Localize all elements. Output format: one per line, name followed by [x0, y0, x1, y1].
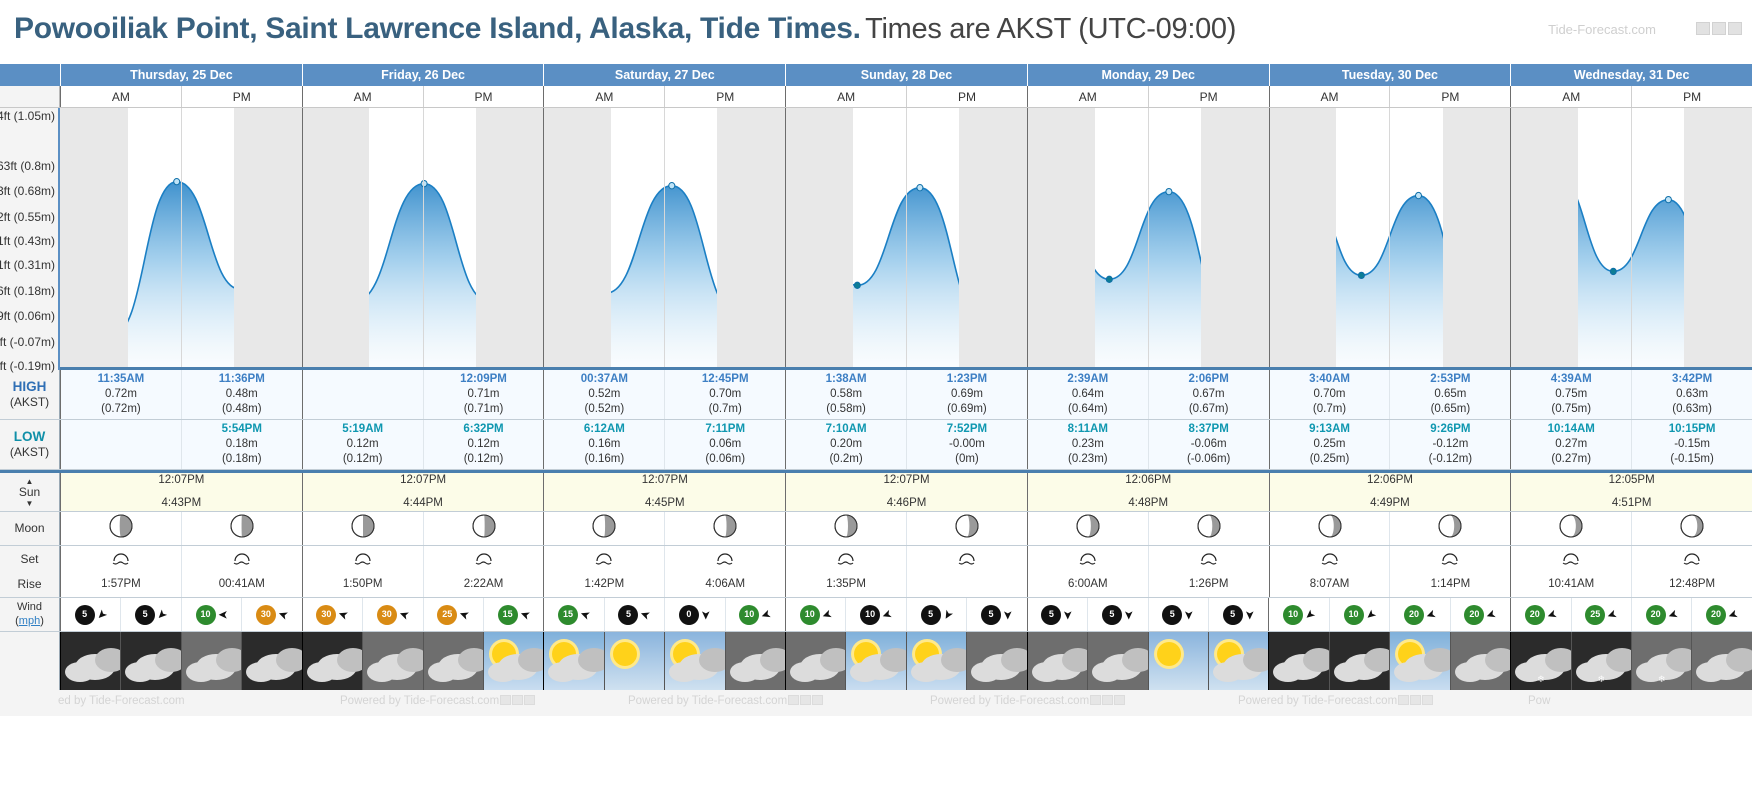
wind-cell-18: 5➤	[1148, 598, 1208, 631]
high-tide-height-alt: (0.72m)	[101, 402, 141, 417]
language-flags[interactable]	[1696, 22, 1742, 35]
footer-watermark-5: Pow	[1528, 695, 1550, 707]
weather-label	[0, 632, 60, 690]
day-header-2: Saturday, 27 Dec	[543, 64, 785, 86]
wind-speed-badge: 5	[75, 605, 95, 625]
high-tide-time: 11:35AM	[98, 372, 145, 387]
tide-low-marker-19	[1358, 272, 1364, 278]
high-tide-cell-4: 00:37AM0.52m(0.52m)	[543, 370, 664, 419]
y-axis-label-5: 1.01ft (0.31m)	[0, 258, 55, 272]
day-header-row: Thursday, 25 DecFriday, 26 DecSaturday, …	[0, 64, 1752, 86]
moon-rise-cell-3: 2:22AM	[423, 572, 544, 597]
low-tide-height-alt: (0.18m)	[222, 452, 262, 467]
weather-tile-1	[120, 632, 180, 690]
night-shading-3-0	[785, 108, 853, 367]
low-tide-label: LOW (AKST)	[0, 420, 60, 469]
wind-cell-24: 20➤	[1510, 598, 1570, 631]
cloud-icon	[1666, 648, 1691, 672]
high-tide-height-alt: (0.64m)	[1068, 402, 1108, 417]
wind-cell-22: 20➤	[1389, 598, 1449, 631]
weather-icon-row: ❄❄❄	[0, 632, 1752, 690]
wind-direction-arrow-icon: ➤	[1666, 607, 1680, 622]
low-tide-label-text: LOW	[14, 429, 46, 446]
moon-phase-icon	[1558, 513, 1584, 544]
wind-row: Wind (mph) 5➤5➤10➤30➤30➤30➤25➤15➤15➤5➤0➤…	[0, 598, 1752, 632]
moon-cell-9	[1148, 512, 1269, 545]
low-tide-height-m: 0.06m	[709, 437, 741, 452]
high-tide-height-alt: (0.7m)	[709, 402, 742, 417]
wind-cell-21: 10➤	[1329, 598, 1389, 631]
moon-rise-time: 4:06AM	[705, 577, 745, 592]
wind-direction-arrow-icon: ➤	[397, 607, 411, 622]
cloud-icon	[880, 648, 905, 672]
high-tide-height-alt: (0.7m)	[1313, 402, 1346, 417]
moon-phase-icon	[229, 513, 255, 544]
moon-rise-cell-1: 00:41AM	[181, 572, 302, 597]
weather-tile-14	[906, 632, 966, 690]
flag-icon[interactable]	[1728, 22, 1742, 35]
wind-cell-6: 25➤	[423, 598, 483, 631]
halfday-header-3-pm: PM	[906, 86, 1027, 107]
halfday-header-4-am: AM	[1027, 86, 1148, 107]
moon-rise-cell-11: 1:14PM	[1389, 572, 1510, 597]
wind-cell-16: 5➤	[1027, 598, 1087, 631]
moon-set-icon	[1681, 549, 1703, 570]
wind-speed-badge: 30	[256, 605, 276, 625]
moon-set-cell-5	[664, 546, 785, 572]
high-tide-height-m: 0.72m	[105, 387, 137, 402]
low-tide-time: 7:11PM	[705, 422, 745, 437]
moon-phase-icon	[591, 513, 617, 544]
wind-cell-8: 15➤	[543, 598, 603, 631]
moon-rise-time: 1:42PM	[585, 577, 625, 592]
weather-tile-26: ❄	[1631, 632, 1691, 690]
night-shading-6-1	[1684, 108, 1752, 367]
day-separator-4	[543, 108, 544, 367]
moon-cell-4	[543, 512, 664, 545]
weather-tile-12	[785, 632, 845, 690]
low-tide-height-m: 0.25m	[1314, 437, 1346, 452]
wind-speed-badge: 25	[437, 605, 457, 625]
weather-tile-6	[423, 632, 483, 690]
low-tide-time: 5:19AM	[342, 422, 383, 437]
wind-cell-0: 5➤	[60, 598, 120, 631]
sunrise-time: 12:07PM	[400, 473, 446, 488]
high-tide-height-alt: (0.48m)	[222, 402, 262, 417]
high-tide-cell-9: 2:06PM0.67m(0.67m)	[1148, 370, 1269, 419]
wind-direction-arrow-icon: ➤	[1002, 609, 1014, 619]
halfday-header-4-pm: PM	[1148, 86, 1269, 107]
moon-rise-cell-13: 12:48PM	[1631, 572, 1752, 597]
weather-tile-13	[845, 632, 905, 690]
wind-direction-arrow-icon: ➤	[639, 607, 653, 622]
cloud-icon	[518, 648, 543, 672]
cloud-icon	[1092, 662, 1122, 682]
tide-chart: 3.44ft (1.05m)2.63ft (0.8m)2.23ft (0.68m…	[0, 108, 1752, 370]
cloud-icon	[1364, 648, 1389, 672]
high-tide-cell-2	[302, 370, 423, 419]
low-tide-height-alt: (0.2m)	[829, 452, 862, 467]
low-tide-time: 6:32PM	[463, 422, 503, 437]
wind-unit-link[interactable]: (mph)	[15, 615, 44, 629]
moon-set-icon	[593, 549, 615, 570]
moon-cell-13	[1631, 512, 1752, 545]
wind-label: Wind (mph)	[0, 598, 60, 631]
y-axis-label-1: 2.63ft (0.8m)	[0, 159, 55, 173]
low-tide-cell-0	[60, 420, 181, 469]
tide-forecast-page: Powooiliak Point, Saint Lawrence Island,…	[0, 0, 1752, 787]
high-tide-height-alt: (0.52m)	[585, 402, 625, 417]
high-tide-height-m: 0.65m	[1434, 387, 1466, 402]
timezone-note: Times are AKST (UTC-09:00)	[865, 13, 1236, 45]
low-tide-cell-12: 10:14AM0.27m(0.27m)	[1510, 420, 1631, 469]
high-tide-cell-6: 1:38AM0.58m(0.58m)	[785, 370, 906, 419]
sun-icon	[1157, 642, 1181, 666]
cloud-icon	[367, 662, 397, 682]
sun-label-text: Sun	[19, 485, 40, 500]
low-tide-time: 10:15PM	[1669, 422, 1716, 437]
moon-set-icon	[1198, 549, 1220, 570]
moon-cell-8	[1027, 512, 1148, 545]
high-tide-time: 3:42PM	[1672, 372, 1712, 387]
moon-set-icon	[835, 549, 857, 570]
y-axis-label-6: 0.6ft (0.18m)	[0, 284, 55, 298]
wind-speed-badge: 30	[377, 605, 397, 625]
brand-watermark: Tide-Forecast.com	[1548, 22, 1656, 37]
low-tide-time: 9:26PM	[1430, 422, 1470, 437]
low-tide-tz: (AKST)	[10, 445, 49, 460]
cloud-icon	[95, 648, 120, 672]
night-shading-3-1	[959, 108, 1027, 367]
weather-tile-15	[966, 632, 1026, 690]
high-tide-height-alt: (0.69m)	[947, 402, 987, 417]
wind-cell-10: 0➤	[664, 598, 724, 631]
y-axis: 3.44ft (1.05m)2.63ft (0.8m)2.23ft (0.68m…	[0, 108, 60, 370]
night-shading-0-0	[60, 108, 128, 367]
halfday-separator-5	[664, 108, 665, 367]
y-axis-label-8: -0.21ft (-0.07m)	[0, 335, 55, 349]
tide-high-marker-0	[174, 178, 180, 184]
wind-direction-arrow-icon: ➤	[1123, 609, 1135, 619]
flag-icon[interactable]	[1712, 22, 1726, 35]
low-tide-height-alt: (0.25m)	[1310, 452, 1350, 467]
moon-phase-icon	[1075, 513, 1101, 544]
footer-watermark-1: Powered by Tide-Forecast.com	[340, 695, 535, 707]
sunset-time: 4:51PM	[1612, 496, 1652, 511]
moon-rise-cell-10: 8:07AM	[1269, 572, 1390, 597]
moon-set-icon	[231, 549, 253, 570]
weather-tile-0	[60, 632, 120, 690]
cloud-icon	[1062, 648, 1087, 672]
moon-rise-cell-5: 4:06AM	[664, 572, 785, 597]
moon-set-cell-3	[423, 546, 544, 572]
cloud-icon	[578, 648, 603, 672]
wind-speed-badge: 5	[618, 605, 638, 625]
low-tide-time: 10:14AM	[1548, 422, 1595, 437]
moon-rise-cell-2: 1:50PM	[302, 572, 423, 597]
day-separator-10	[1269, 108, 1270, 367]
high-tide-cell-1: 11:36PM0.48m(0.48m)	[181, 370, 302, 419]
wind-cell-25: 25➤	[1571, 598, 1631, 631]
high-tide-height-m: 0.67m	[1193, 387, 1225, 402]
wind-cell-14: 5➤	[906, 598, 966, 631]
moon-set-cell-13	[1631, 546, 1752, 572]
ampm-header-row: AMPMAMPMAMPMAMPMAMPMAMPMAMPM	[0, 86, 1752, 108]
moon-rise-time: 2:22AM	[464, 577, 504, 592]
wind-speed-badge: 5	[1041, 605, 1061, 625]
high-tide-height-m: 0.70m	[1314, 387, 1346, 402]
high-tide-height-m: 0.75m	[1555, 387, 1587, 402]
night-shading-2-1	[717, 108, 785, 367]
day-header-6: Wednesday, 31 Dec	[1510, 64, 1752, 86]
halfday-separator-7	[906, 108, 907, 367]
axis-corner-2	[0, 86, 60, 107]
high-tide-height-alt: (0.63m)	[1672, 402, 1712, 417]
moon-rise-time: 6:00AM	[1068, 577, 1108, 592]
high-tide-time: 1:23PM	[947, 372, 987, 387]
low-tide-cell-1: 5:54PM0.18m(0.18m)	[181, 420, 302, 469]
wind-cell-9: 5➤	[604, 598, 664, 631]
weather-tile-17	[1087, 632, 1147, 690]
low-tide-height-alt: (0.27m)	[1551, 452, 1591, 467]
wind-direction-arrow-icon: ➤	[518, 607, 532, 622]
y-axis-label-2: 2.23ft (0.68m)	[0, 184, 55, 198]
high-tide-height-m: 0.48m	[226, 387, 258, 402]
halfday-separator-11	[1389, 108, 1390, 367]
day-separator-2	[302, 108, 303, 367]
moon-phase-icon	[108, 513, 134, 544]
wind-direction-arrow-icon: ➤	[1605, 607, 1619, 622]
high-tide-cell-5: 12:45PM0.70m(0.7m)	[664, 370, 785, 419]
cloud-icon	[276, 648, 301, 672]
moon-set-cell-7	[906, 546, 1027, 572]
moon-cell-6	[785, 512, 906, 545]
low-tide-time: 7:10AM	[826, 422, 867, 437]
low-tide-cell-7: 7:52PM-0.00m(0m)	[906, 420, 1027, 469]
wind-direction-arrow-icon: ➤	[1726, 607, 1740, 622]
weather-tile-23	[1450, 632, 1510, 690]
moon-set-cell-8	[1027, 546, 1148, 572]
footer-watermarks: ed by Tide-Forecast.comPowered by Tide-F…	[0, 690, 1752, 716]
moon-rise-cell-0: 1:57PM	[60, 572, 181, 597]
high-tide-time: 1:38AM	[826, 372, 867, 387]
moon-set-icon	[1560, 549, 1582, 570]
high-tide-height-m: 0.70m	[709, 387, 741, 402]
wind-speed-badge: 5	[135, 605, 155, 625]
low-tide-height-alt: (0.06m)	[705, 452, 745, 467]
high-tide-height-m: 0.58m	[830, 387, 862, 402]
low-tide-time: 6:12AM	[584, 422, 625, 437]
moon-cell-0	[60, 512, 181, 545]
moon-set-icon	[1439, 549, 1461, 570]
footer-watermark-4: Powered by Tide-Forecast.com	[1238, 695, 1433, 707]
cloud-icon	[1455, 662, 1485, 682]
wind-cell-13: 10➤	[845, 598, 905, 631]
wind-cell-4: 30➤	[302, 598, 362, 631]
wind-direction-arrow-icon: ➤	[457, 607, 471, 622]
night-shading-4-0	[1027, 108, 1095, 367]
night-shading-6-0	[1510, 108, 1578, 367]
day-separator-6	[785, 108, 786, 367]
day-separator-12	[1510, 108, 1511, 367]
night-shading-5-1	[1443, 108, 1511, 367]
wind-direction-arrow-icon: ➤	[1545, 607, 1559, 622]
high-tide-height-alt: (0.67m)	[1189, 402, 1229, 417]
moon-set-cell-0	[60, 546, 181, 572]
high-tide-tz: (AKST)	[10, 395, 49, 410]
flag-icon[interactable]	[1696, 22, 1710, 35]
cloud-icon	[1213, 662, 1243, 682]
low-tide-time: 8:37PM	[1189, 422, 1229, 437]
moon-rise-time: 1:35PM	[826, 577, 866, 592]
wind-cell-27: 20➤	[1691, 598, 1751, 631]
high-tide-height-alt: (0.58m)	[826, 402, 866, 417]
wind-cell-26: 20➤	[1631, 598, 1691, 631]
moon-rise-cell-6: 1:35PM	[785, 572, 906, 597]
night-shading-1-0	[302, 108, 370, 367]
high-tide-height-m: 0.63m	[1676, 387, 1708, 402]
sunrise-time: 12:05PM	[1609, 473, 1655, 488]
wind-direction-arrow-icon: ➤	[276, 607, 290, 622]
wind-cell-11: 10➤	[725, 598, 785, 631]
high-tide-row: HIGH (AKST) 11:35AM0.72m(0.72m)11:36PM0.…	[0, 370, 1752, 420]
weather-tile-4	[302, 632, 362, 690]
moon-cell-10	[1269, 512, 1390, 545]
sun-icon	[613, 642, 637, 666]
sunrise-time: 12:07PM	[642, 473, 688, 488]
low-tide-row: LOW (AKST) 5:54PM0.18m(0.18m)5:19AM0.12m…	[0, 420, 1752, 470]
wind-cell-23: 20➤	[1450, 598, 1510, 631]
wind-speed-badge: 20	[1464, 605, 1484, 625]
moon-phase-icon	[1679, 513, 1705, 544]
moon-set-icon	[352, 549, 374, 570]
day-header-0: Thursday, 25 Dec	[60, 64, 302, 86]
high-tide-label-text: HIGH	[13, 379, 47, 396]
wind-speed-badge: 10	[196, 605, 216, 625]
footer-watermark-3: Powered by Tide-Forecast.com	[930, 695, 1125, 707]
moon-set-cell-10	[1269, 546, 1390, 572]
weather-tile-21	[1329, 632, 1389, 690]
high-tide-time: 12:45PM	[702, 372, 749, 387]
wind-cell-12: 10➤	[785, 598, 845, 631]
low-tide-cell-4: 6:12AM0.16m(0.16m)	[543, 420, 664, 469]
wind-direction-arrow-icon: ➤	[880, 607, 894, 622]
weather-tile-22	[1389, 632, 1449, 690]
low-tide-height-alt: (-0.15m)	[1670, 452, 1713, 467]
sun-cell-5: 12:06PM4:49PM	[1269, 473, 1511, 511]
wind-cell-2: 10➤	[181, 598, 241, 631]
moon-cell-12	[1510, 512, 1631, 545]
page-header: Powooiliak Point, Saint Lawrence Island,…	[0, 0, 1752, 64]
moon-set-icon	[714, 549, 736, 570]
high-tide-time: 2:53PM	[1430, 372, 1470, 387]
halfday-header-5-am: AM	[1269, 86, 1390, 107]
night-shading-4-1	[1201, 108, 1269, 367]
low-tide-cell-3: 6:32PM0.12m(0.12m)	[423, 420, 544, 469]
weather-tile-8	[543, 632, 603, 690]
wind-cell-5: 30➤	[362, 598, 422, 631]
halfday-header-6-am: AM	[1510, 86, 1631, 107]
wind-speed-badge: 20	[1646, 605, 1666, 625]
cloud-icon	[1424, 648, 1449, 672]
night-shading-1-1	[476, 108, 544, 367]
halfday-header-1-am: AM	[302, 86, 423, 107]
wind-speed-badge: 5	[1162, 605, 1182, 625]
wind-cell-7: 15➤	[483, 598, 543, 631]
halfday-header-3-am: AM	[785, 86, 906, 107]
high-tide-height-m: 0.52m	[588, 387, 620, 402]
wind-direction-arrow-icon: ➤	[1062, 609, 1074, 619]
moon-rise-time: 8:07AM	[1310, 577, 1350, 592]
moon-set-cell-9	[1148, 546, 1269, 572]
wind-speed-badge: 10	[1283, 605, 1303, 625]
low-tide-cell-11: 9:26PM-0.12m(-0.12m)	[1389, 420, 1510, 469]
moon-set-cell-4	[543, 546, 664, 572]
low-tide-height-m: -0.15m	[1674, 437, 1710, 452]
cloud-icon	[1334, 662, 1364, 682]
weather-tile-7	[483, 632, 543, 690]
moon-set-icon	[956, 549, 978, 570]
cloud-icon	[730, 662, 760, 682]
moon-set-cell-12	[1510, 546, 1631, 572]
high-tide-cell-10: 3:40AM0.70m(0.7m)	[1269, 370, 1390, 419]
wind-direction-arrow-icon: ➤	[94, 607, 110, 623]
weather-tile-16	[1027, 632, 1087, 690]
low-tide-height-m: 0.18m	[226, 437, 258, 452]
high-tide-cell-11: 2:53PM0.65m(0.65m)	[1389, 370, 1510, 419]
cloud-icon	[1001, 648, 1026, 672]
sun-cell-4: 12:06PM4:48PM	[1027, 473, 1269, 511]
moon-set-label: Set	[0, 546, 60, 572]
wind-direction-arrow-icon: ➤	[1363, 607, 1378, 623]
weather-tile-5	[362, 632, 422, 690]
wind-speed-badge: 5	[921, 605, 941, 625]
wind-direction-arrow-icon: ➤	[820, 607, 834, 622]
wind-speed-badge: 20	[1404, 605, 1424, 625]
low-tide-height-alt: (0m)	[955, 452, 979, 467]
weather-tile-18	[1148, 632, 1208, 690]
moon-set-row: Set	[0, 546, 1752, 572]
high-tide-cell-0: 11:35AM0.72m(0.72m)	[60, 370, 181, 419]
wind-cell-17: 5➤	[1087, 598, 1147, 631]
halfday-header-2-am: AM	[543, 86, 664, 107]
low-tide-height-alt: (-0.12m)	[1429, 452, 1472, 467]
high-tide-cell-3: 12:09PM0.71m(0.71m)	[423, 370, 544, 419]
high-tide-height-alt: (0.65m)	[1431, 402, 1471, 417]
moon-phase-icon	[471, 513, 497, 544]
low-tide-height-m: 0.20m	[830, 437, 862, 452]
sunrise-time: 12:07PM	[158, 473, 204, 488]
low-tide-time: 8:11AM	[1068, 422, 1108, 437]
high-tide-height-alt: (0.75m)	[1551, 402, 1591, 417]
weather-tile-27	[1691, 632, 1751, 690]
wind-speed-badge: 5	[1102, 605, 1122, 625]
wind-speed-badge: 5	[981, 605, 1001, 625]
tide-high-marker-16	[1166, 188, 1172, 194]
cloud-icon	[216, 648, 241, 672]
wind-speed-badge: 15	[558, 605, 578, 625]
wind-direction-arrow-icon: ➤	[1424, 607, 1438, 622]
halfday-separator-13	[1631, 108, 1632, 367]
high-tide-height-m: 0.69m	[951, 387, 983, 402]
day-header-1: Friday, 26 Dec	[302, 64, 544, 86]
wind-speed-badge: 10	[800, 605, 820, 625]
moon-cell-5	[664, 512, 785, 545]
tide-curve-plot	[60, 108, 1752, 370]
high-tide-time: 11:36PM	[219, 372, 265, 387]
cloud-icon	[941, 648, 966, 672]
snowflake-icon: ❄	[1598, 674, 1606, 685]
